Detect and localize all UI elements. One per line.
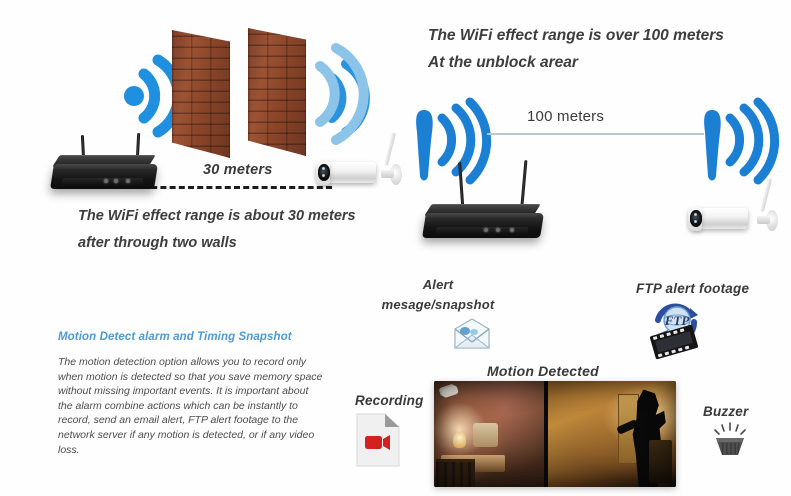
label-alert-message: Alert mesage/snapshot [370, 275, 506, 315]
photo-vignette [434, 381, 676, 487]
headline-unblock-line1: The WiFi effect range is over 100 meters [428, 22, 758, 49]
label-recording: Recording [355, 393, 424, 408]
distance-line-100m [487, 133, 704, 135]
distance-line-30m [142, 186, 332, 189]
motion-detect-title: Motion Detect alarm and Timing Snapshot [58, 331, 292, 343]
nvr-recorder-icon [52, 139, 156, 195]
blue-antenna-icon [700, 106, 778, 188]
label-100-meters: 100 meters [527, 108, 604, 125]
bullet-camera-icon [690, 194, 766, 246]
video-recording-file-icon [355, 412, 401, 468]
headline-twowalls-line2: after through two walls [78, 230, 418, 257]
label-buzzer: Buzzer [703, 404, 748, 419]
label-alert-line1: Alert [370, 275, 506, 295]
nvr-recorder-icon [424, 172, 542, 244]
headline-unblock-line2: At the unblock arear [428, 49, 758, 76]
label-alert-line2: mesage/snapshot [370, 295, 506, 315]
bullet-camera-icon [318, 148, 390, 200]
paragraph-line: the alarm combine actions which can be i… [58, 399, 350, 414]
motion-detect-paragraph: The motion detection option allows you t… [58, 355, 350, 457]
label-30-meters: 30 meters [203, 162, 273, 178]
motion-detected-photo [434, 381, 676, 487]
paragraph-line: without missing important events. It is … [58, 384, 350, 399]
paragraph-line: loss. [58, 443, 350, 458]
brick-wall-icon [172, 30, 230, 158]
label-motion-detected: Motion Detected [487, 363, 599, 379]
svg-text:FTP: FTP [664, 313, 691, 328]
paragraph-line: record, send an email alert, FTP alert f… [58, 413, 350, 428]
diagram-canvas: The WiFi effect range is over 100 meters… [0, 0, 791, 496]
paragraph-line: network server if any motion is detected… [58, 428, 350, 443]
headline-twowalls-line1: The WiFi effect range is about 30 meters [78, 203, 418, 230]
headline-unblock-range: The WiFi effect range is over 100 meters… [428, 22, 758, 76]
buzzer-siren-icon [709, 422, 751, 458]
wifi-signal-weak-icon [306, 36, 376, 152]
label-ftp-alert-footage: FTP alert footage [636, 281, 749, 296]
paragraph-line: The motion detection option allows you t… [58, 355, 350, 370]
ftp-transfer-film-icon: FTP [644, 298, 706, 360]
brick-wall-icon [248, 28, 306, 156]
paragraph-line: when motion is detected so that you save… [58, 370, 350, 385]
headline-twowalls-range: The WiFi effect range is about 30 meters… [78, 203, 418, 257]
email-envelope-icon [452, 317, 492, 351]
